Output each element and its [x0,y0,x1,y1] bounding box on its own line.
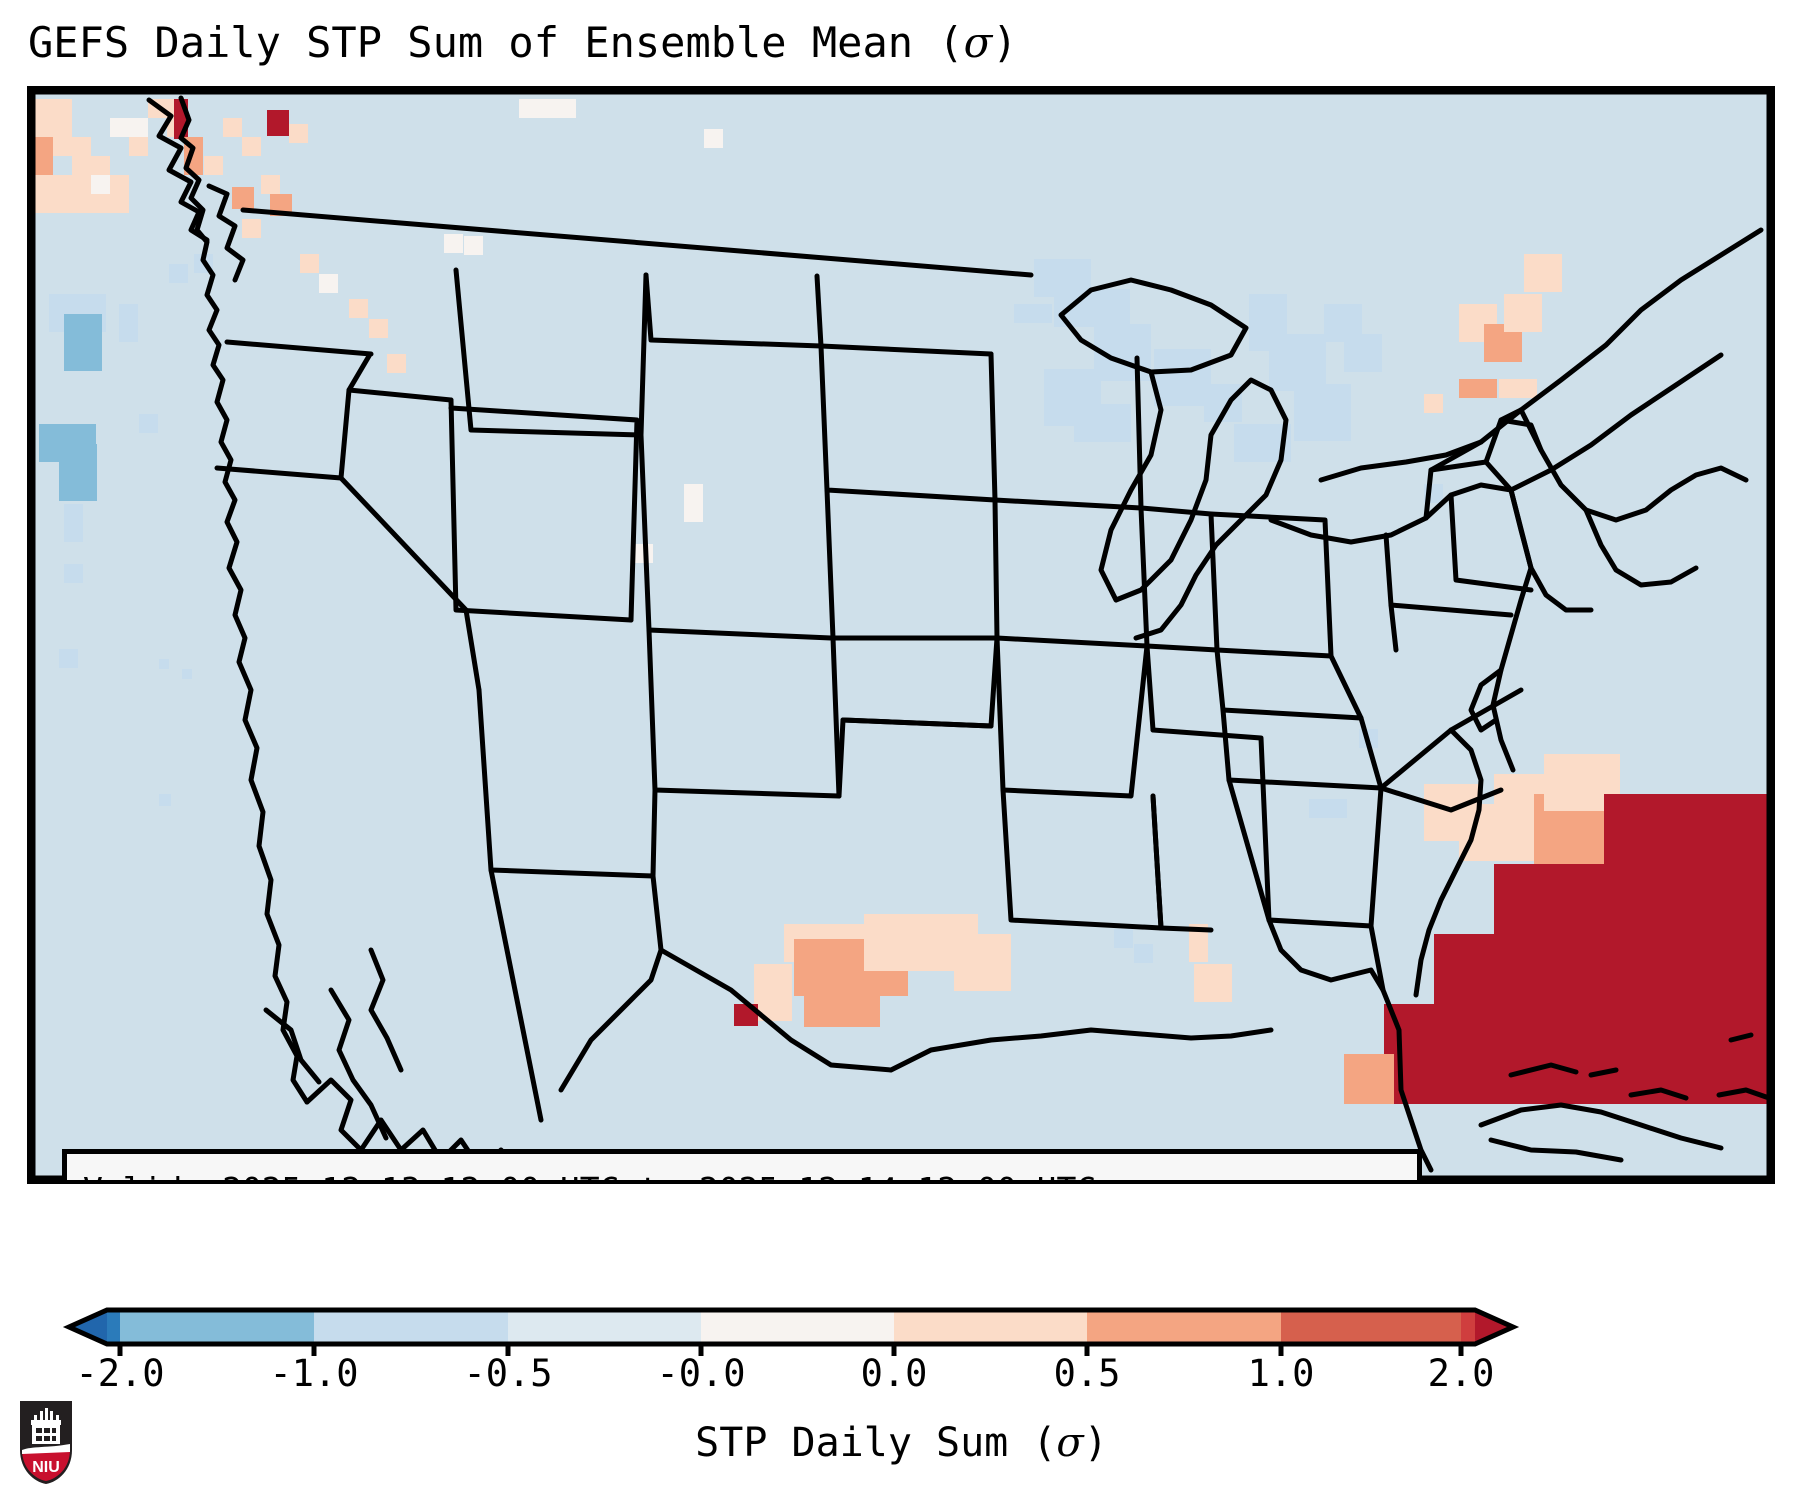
grid-cell [169,264,188,283]
colorbar-band [1087,1310,1281,1344]
grid-cell [864,969,902,988]
colorbar-tick-label: -0.0 [656,1352,745,1395]
grid-cell [64,564,83,583]
colorbar-band [107,1310,120,1344]
cbar-label-sigma: σ [1056,1420,1083,1466]
grid-cell [64,314,102,371]
cbar-label-after: ) [1084,1420,1108,1466]
grid-cell [34,99,72,137]
grid-cell [1344,334,1382,372]
grid-cell [72,156,110,175]
grid-cell [1309,799,1347,818]
grid-cell [267,110,289,136]
grid-cell [53,137,91,156]
grid-cell [387,354,406,373]
grid-cell [1294,384,1351,441]
colorbar-band [701,1310,894,1344]
grid-cell [242,219,261,238]
grid-cell [1459,379,1497,398]
grid-cell [1014,304,1052,323]
grid-cell [64,504,83,542]
grid-cell [34,137,53,175]
grid-cell [139,414,158,433]
grid-cell [1344,1054,1394,1104]
grid-cell [1504,294,1542,332]
grid-cell [464,236,483,255]
grid-cell [1114,929,1133,948]
valid-time-line: Valid: 2025-12-13 12:00 UTC to 2025-12-1… [83,1164,1401,1184]
colorbar-tick-label: -2.0 [75,1352,164,1395]
cbar-label-before: STP Daily Sum ( [695,1420,1056,1466]
grid-cell [954,934,1011,991]
grid-cell [369,319,388,338]
colorbar-tick-label: 0.0 [861,1352,928,1395]
grid-cell [1459,804,1535,861]
grid-cell [223,118,242,137]
title-text-after: ) [992,18,1017,67]
colorbar-tick-label: 2.0 [1428,1352,1495,1395]
colorbar-tick-label: -0.5 [463,1352,552,1395]
grid-cell [349,299,368,318]
map-panel[interactable]: Valid: 2025-12-13 12:00 UTC to 2025-12-1… [27,86,1775,1184]
grid-cell [59,444,97,501]
forecast-info-box: Valid: 2025-12-13 12:00 UTC to 2025-12-1… [62,1149,1422,1184]
grid-cell [804,989,880,1027]
grid-cell [119,304,138,342]
colorbar[interactable] [0,1298,1803,1356]
page-title: GEFS Daily STP Sum of Ensemble Mean (σ) [28,18,1018,67]
grid-cell [1604,794,1771,1104]
grid-cell [824,949,843,987]
colorbar-band [508,1310,701,1344]
grid-cell [59,649,78,668]
grid-cell [232,187,254,209]
grid-cell [1134,944,1153,963]
grid-cell [684,484,703,522]
grid-cell [242,137,261,156]
colorbar-axis-label: STP Daily Sum (σ) [0,1420,1803,1466]
grid-cell [204,156,223,175]
grid-cell [1424,394,1443,413]
map-canvas[interactable] [31,90,1771,1180]
grid-cell [261,175,280,194]
grid-cell [300,254,319,273]
title-sigma: σ [964,18,993,67]
grid-cell [159,794,171,806]
colorbar-band [1281,1310,1461,1344]
title-text-before: GEFS Daily STP Sum of Ensemble Mean ( [28,18,964,67]
colorbar-tick-label: -1.0 [269,1352,358,1395]
colorbar-tick-labels: -2.0-1.0-0.5-0.00.00.51.02.0 [0,1352,1803,1412]
niu-logo: NIU [18,1398,74,1486]
grid-cell [1434,934,1504,1104]
colorbar-svg[interactable] [0,1298,1803,1356]
grid-cell [34,175,129,213]
grid-cell [519,99,557,118]
grid-cell [129,137,148,156]
colorbar-band [314,1310,508,1344]
colorbar-tick-label: 1.0 [1248,1352,1315,1395]
grid-cell [704,129,723,148]
grid-cell [1154,349,1211,406]
grid-cell [444,234,463,253]
grid-cell [182,669,192,679]
colorbar-band [1461,1310,1475,1344]
grid-cell [319,274,338,293]
grid-cell [1524,254,1562,292]
grid-cell [1499,379,1537,398]
grid-cell [557,99,576,118]
colorbar-tick-label: 0.5 [1054,1352,1121,1395]
colorbar-band [120,1310,314,1344]
grid-cell [159,659,169,669]
grid-cell [1269,334,1326,391]
grid-cell [1074,404,1131,442]
colorbar-band [894,1310,1087,1344]
grid-cell [289,124,308,143]
grid-cell [110,118,148,137]
logo-text: NIU [32,1459,60,1476]
grid-cell [91,175,110,194]
colorbar-bands [69,1310,1513,1344]
grid-cell [1194,964,1232,1002]
